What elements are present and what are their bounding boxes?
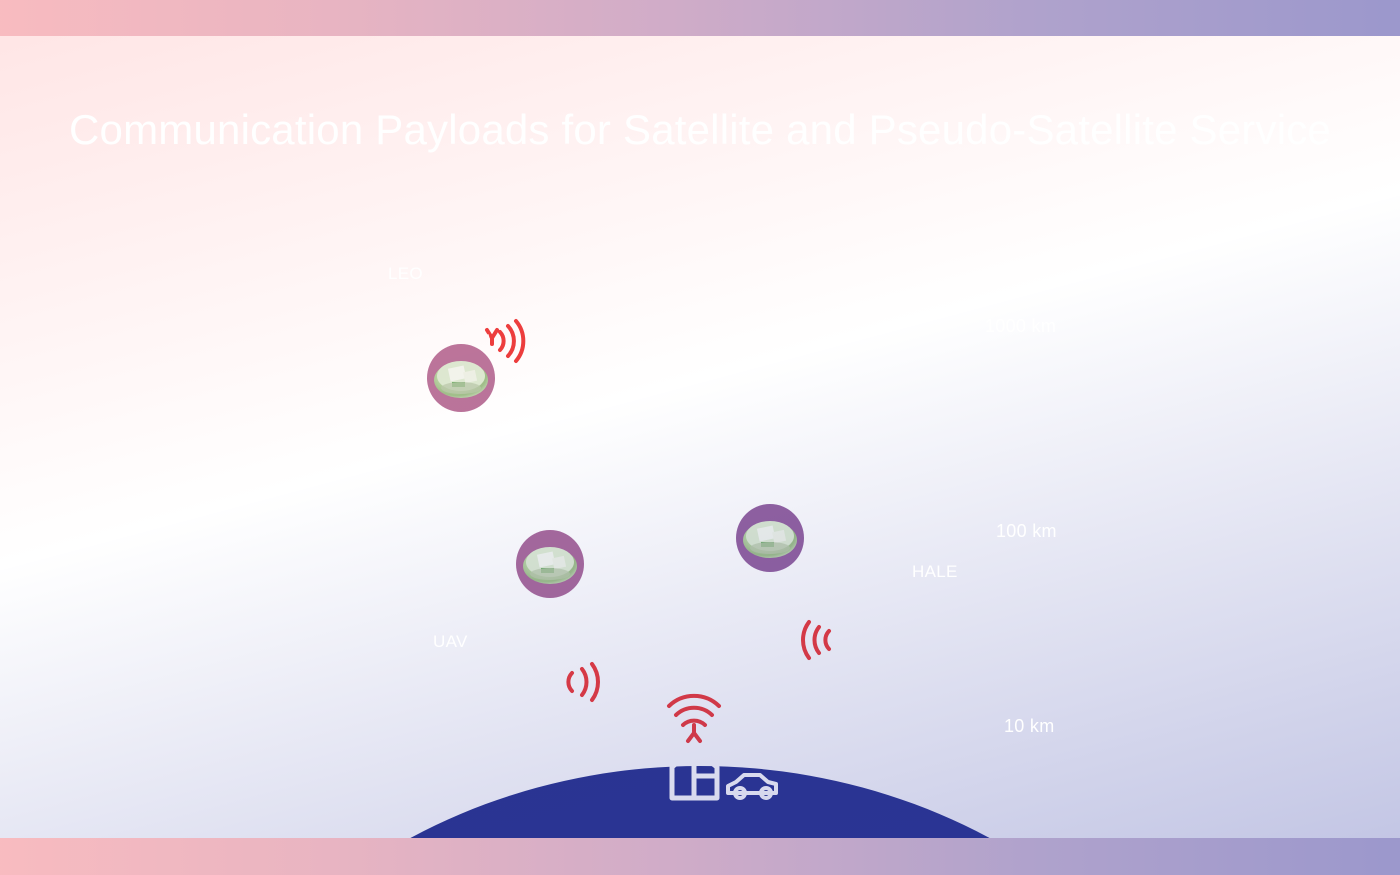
altitude-label-1000km: 1000 km [985,316,1056,337]
link-hale-ground [707,658,795,735]
altitude-label-10km: 10 km [1004,716,1055,737]
node-label-leo: LEO [388,264,423,284]
hale-airship-icon [834,577,920,708]
ring-100km [0,581,1400,736]
top-fade-band [0,0,1400,36]
payload-board-photo [427,344,495,412]
payload-board-photo [736,504,804,572]
uav-payload-callout [513,527,587,649]
leo-payload-callout [424,336,498,415]
scene-vector [0,36,1400,838]
page-title: Communication Payloads for Satellite and… [0,106,1400,154]
diagram-artwork: Communication Payloads for Satellite and… [0,36,1400,838]
hale-payload-callout [733,501,826,617]
uav-signal-icon [568,664,598,700]
altitude-label-100km: 100 km [996,521,1057,542]
link-uav-ground [606,686,686,736]
payload-board-photo [516,530,584,598]
bottom-fade-band [0,838,1400,875]
node-label-uav: UAV [433,632,468,652]
hale-signal-icon [803,622,829,658]
node-label-hale: HALE [912,562,958,582]
ring-1000km [0,391,1400,596]
slide-canvas: Communication Payloads for Satellite and… [0,0,1400,875]
